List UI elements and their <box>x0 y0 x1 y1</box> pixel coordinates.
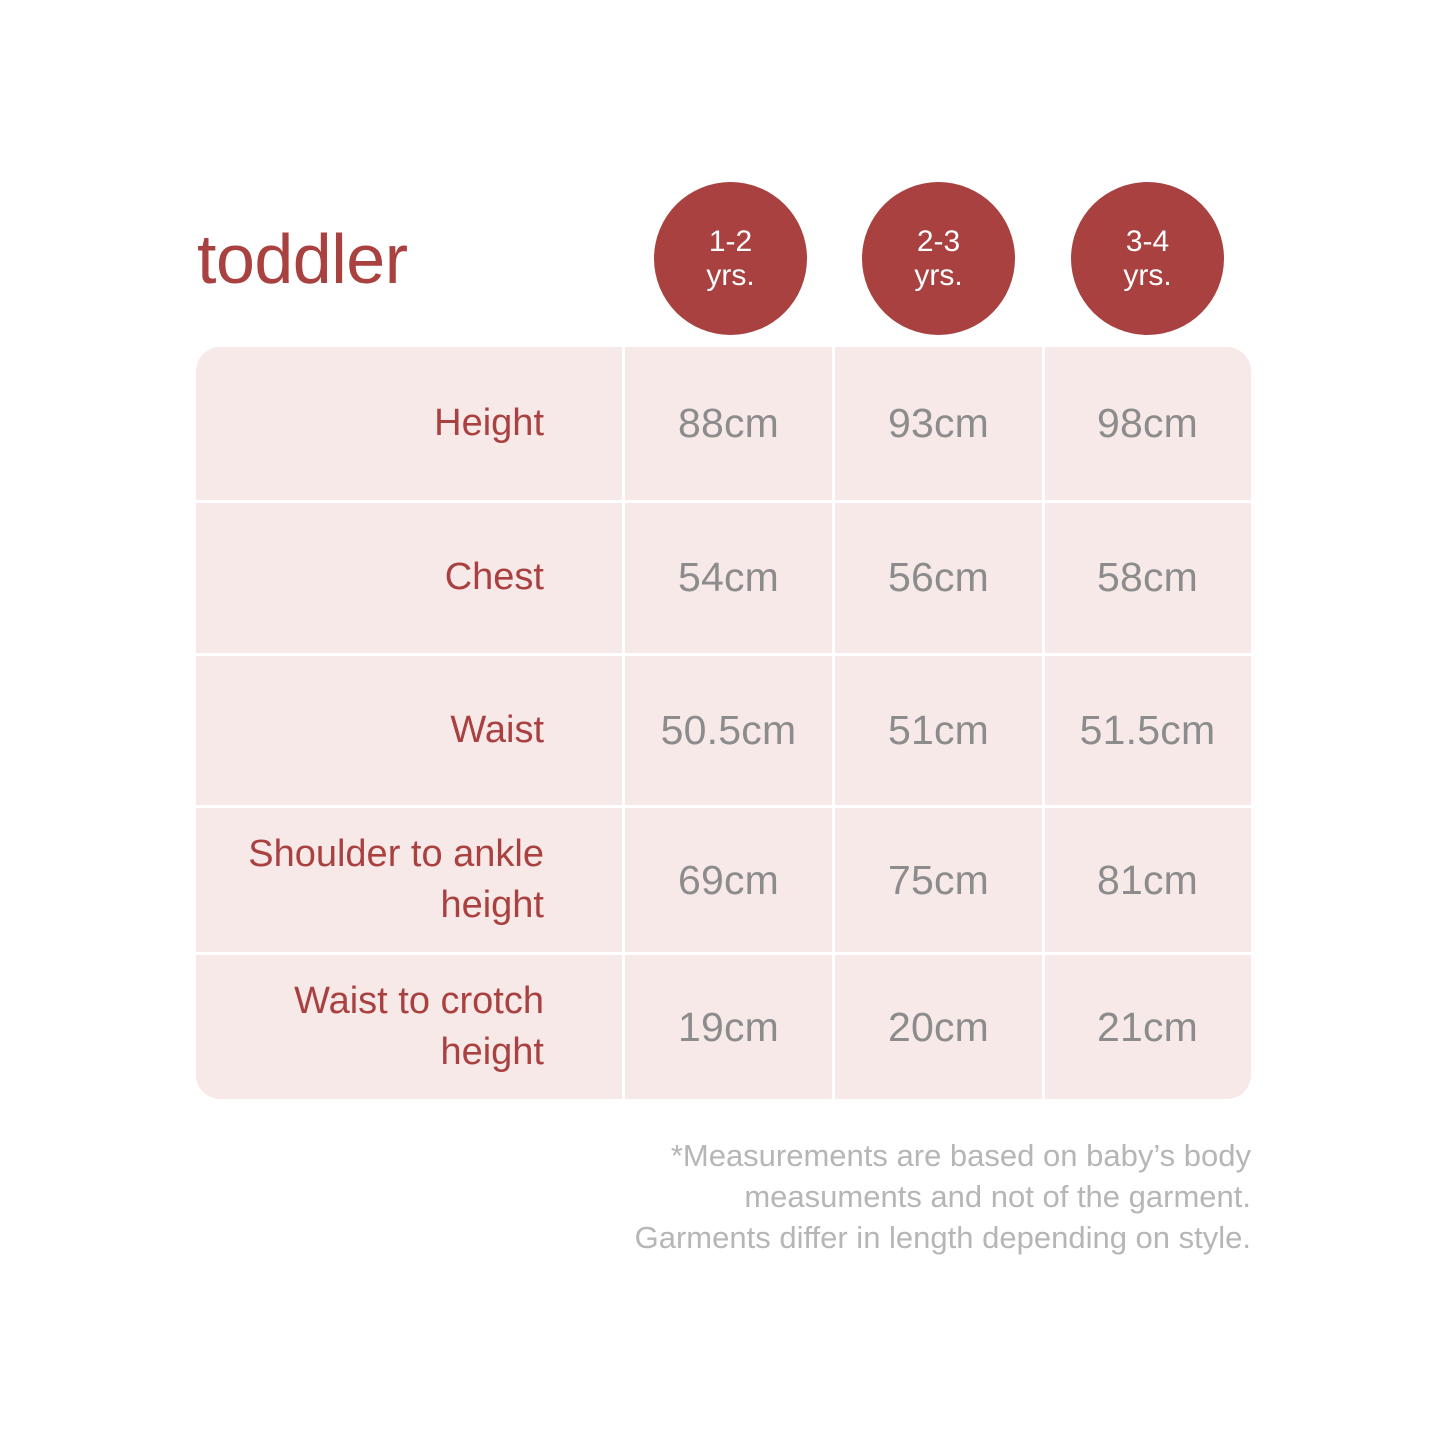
footnote-disclaimer: *Measurements are based on baby’s body m… <box>470 1135 1251 1259</box>
measurement-value: 51cm <box>832 656 1042 806</box>
chart-header: toddler 1-2 yrs. 2-3 yrs. 3-4 yrs. <box>0 176 1445 342</box>
size-badge-range: 1-2 <box>709 225 752 259</box>
measurement-value: 54cm <box>622 503 832 653</box>
measurement-label: Shoulder to ankle height <box>196 808 622 952</box>
measurement-value: 51.5cm <box>1042 656 1250 806</box>
measurement-value: 21cm <box>1042 955 1250 1099</box>
measurement-label: Waist <box>196 656 622 806</box>
measurement-value: 19cm <box>622 955 832 1099</box>
measurement-value: 50.5cm <box>622 656 832 806</box>
table-row: Waist 50.5cm 51cm 51.5cm <box>196 653 1251 806</box>
footnote-line-1: *Measurements are based on baby’s body <box>470 1135 1251 1176</box>
measurement-label: Waist to crotch height <box>196 955 622 1099</box>
measurement-value: 75cm <box>832 808 1042 952</box>
size-badge-unit: yrs. <box>1123 259 1171 293</box>
measurement-value: 98cm <box>1042 347 1250 500</box>
measurement-value: 81cm <box>1042 808 1250 952</box>
table-row: Chest 54cm 56cm 58cm <box>196 500 1251 653</box>
size-badge-3-4-yrs: 3-4 yrs. <box>1071 182 1224 335</box>
measurement-value: 93cm <box>832 347 1042 500</box>
measurement-value: 56cm <box>832 503 1042 653</box>
measurement-value: 58cm <box>1042 503 1250 653</box>
size-badge-unit: yrs. <box>914 259 962 293</box>
table-row: Height 88cm 93cm 98cm <box>196 347 1251 500</box>
table-row: Shoulder to ankle height 69cm 75cm 81cm <box>196 805 1251 952</box>
measurement-value: 69cm <box>622 808 832 952</box>
size-badge-range: 2-3 <box>917 225 960 259</box>
measurement-value: 20cm <box>832 955 1042 1099</box>
size-badge-range: 3-4 <box>1126 225 1169 259</box>
measurements-table: Height 88cm 93cm 98cm Chest 54cm 56cm 58… <box>196 347 1251 1099</box>
footnote-line-3: Garments differ in length depending on s… <box>470 1217 1251 1258</box>
measurement-label: Chest <box>196 503 622 653</box>
measurement-label: Height <box>196 347 622 500</box>
size-badge-1-2-yrs: 1-2 yrs. <box>654 182 807 335</box>
size-badge-unit: yrs. <box>706 259 754 293</box>
footnote-line-2: measuments and not of the garment. <box>470 1176 1251 1217</box>
size-badge-2-3-yrs: 2-3 yrs. <box>862 182 1015 335</box>
size-chart-page: toddler 1-2 yrs. 2-3 yrs. 3-4 yrs. Heigh… <box>0 0 1445 1444</box>
table-row: Waist to crotch height 19cm 20cm 21cm <box>196 952 1251 1099</box>
measurement-value: 88cm <box>622 347 832 500</box>
page-title: toddler <box>197 176 617 342</box>
